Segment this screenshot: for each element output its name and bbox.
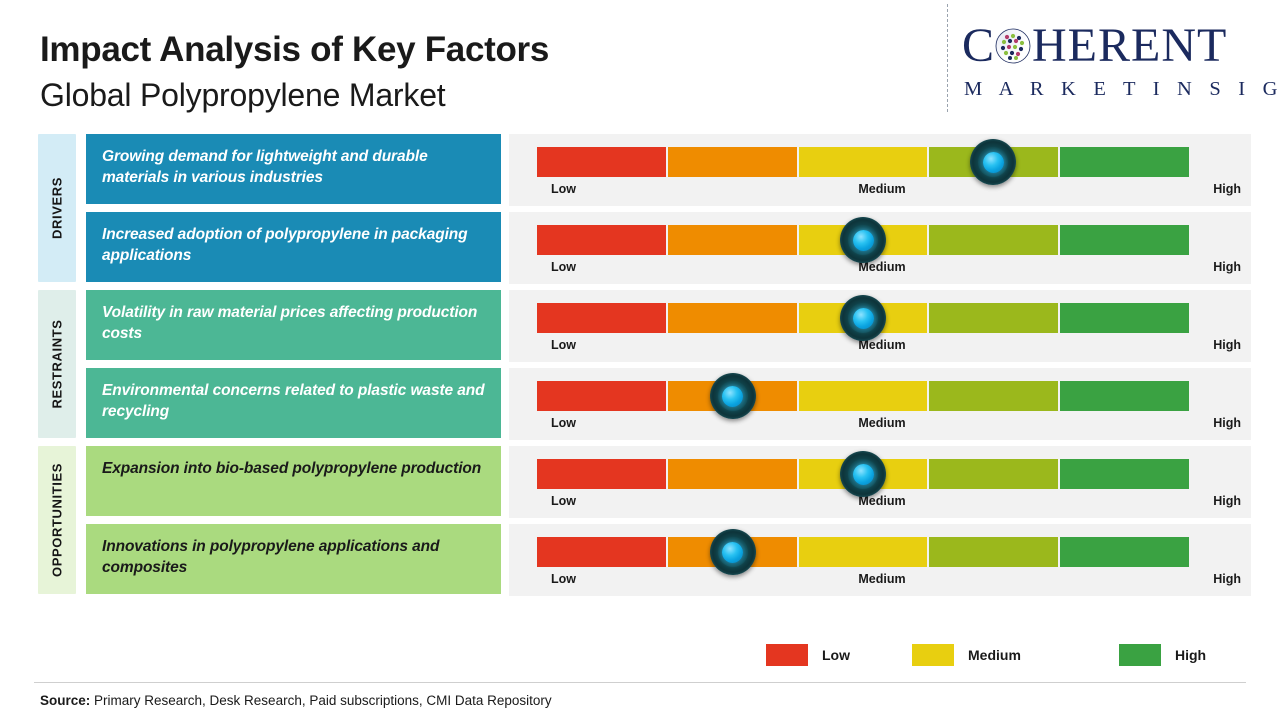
gauge-segment-2 [668,303,797,333]
gauge-segment-5 [1060,459,1189,489]
slide-header: Impact Analysis of Key Factors Global Po… [0,0,1280,128]
factor-box: Environmental concerns related to plasti… [86,368,501,438]
gauge-marker[interactable] [970,139,1016,185]
logo-tagline: M A R K E T I N S I G H T S [962,78,1262,101]
page-title: Impact Analysis of Key Factors [40,30,549,70]
gauge-segment-4 [929,537,1058,567]
footer-divider [34,682,1246,683]
logo-wordmark-rest: HERENT [1032,22,1227,70]
category-strip-label: RESTRAINTS [50,319,65,408]
gauge-label-low: Low [551,182,576,196]
gauge-bar [537,381,1189,411]
gauge-label-high: High [1213,416,1241,430]
gauge-scale-labels: LowMediumHigh [537,182,1227,202]
gauge-marker[interactable] [710,373,756,419]
gauge-scale-labels: LowMediumHigh [537,494,1227,514]
legend: LowMediumHigh [0,634,1280,678]
gauge-segment-1 [537,381,666,411]
gauge-label-high: High [1213,260,1241,274]
gauge-label-high: High [1213,182,1241,196]
gauge-segment-4 [929,225,1058,255]
gauge-label-low: Low [551,416,576,430]
source-label: Source: [40,693,90,708]
gauge-segment-3 [799,147,928,177]
gauge-segment-4 [929,381,1058,411]
gauge-segment-5 [1060,303,1189,333]
gauge-segment-5 [1060,147,1189,177]
gauge-segment-4 [929,303,1058,333]
gauge-segment-1 [537,147,666,177]
page-subtitle: Global Polypropylene Market [40,76,549,114]
gauge-bar [537,537,1189,567]
title-block: Impact Analysis of Key Factors Global Po… [40,30,549,115]
category-strip-label: OPPORTUNITIES [50,463,65,577]
source-text: Primary Research, Desk Research, Paid su… [90,693,551,708]
gauge-segment-5 [1060,537,1189,567]
logo-wordmark-primary: C [962,22,1262,70]
gauge-segment-3 [799,381,928,411]
gauge-scale-labels: LowMediumHigh [537,416,1227,436]
gauge-label-medium: Medium [858,182,905,196]
legend-label-low: Low [822,647,850,663]
gauge-label-medium: Medium [858,572,905,586]
gauge-panel: LowMediumHigh [509,368,1251,440]
gauge-segment-2 [668,225,797,255]
category-strip-opportunities: OPPORTUNITIES [38,446,76,594]
category-strip-label: DRIVERS [50,177,65,239]
source-note: Source: Primary Research, Desk Research,… [40,693,552,708]
legend-label-high: High [1175,647,1206,663]
gauge-segment-5 [1060,225,1189,255]
gauge-marker[interactable] [710,529,756,575]
gauge-segment-5 [1060,381,1189,411]
gauge-marker[interactable] [840,451,886,497]
gauge-panel: LowMediumHigh [509,212,1251,284]
gauge-panel: LowMediumHigh [509,524,1251,596]
factor-box: Growing demand for lightweight and durab… [86,134,501,204]
gauge-panel: LowMediumHigh [509,290,1251,362]
factor-box: Increased adoption of polypropylene in p… [86,212,501,282]
gauge-label-low: Low [551,338,576,352]
logo-letter-c: C [962,22,995,70]
gauge-marker[interactable] [840,295,886,341]
gauge-panel: LowMediumHigh [509,446,1251,518]
gauge-segment-1 [537,537,666,567]
gauge-segment-4 [929,459,1058,489]
category-strip-restraints: RESTRAINTS [38,290,76,438]
legend-label-medium: Medium [968,647,1021,663]
gauge-label-high: High [1213,338,1241,352]
factor-box: Innovations in polypropylene application… [86,524,501,594]
gauge-segment-3 [799,537,928,567]
slide-root: Impact Analysis of Key Factors Global Po… [0,0,1280,720]
gauge-segment-1 [537,225,666,255]
legend-item-high: High [1119,644,1206,666]
gauge-segment-2 [668,147,797,177]
gauge-scale-labels: LowMediumHigh [537,338,1227,358]
gauge-panel: LowMediumHigh [509,134,1251,206]
legend-swatch-medium [912,644,954,666]
header-dashed-divider [947,4,948,112]
gauge-segment-2 [668,459,797,489]
gauge-segment-1 [537,303,666,333]
factor-box: Expansion into bio-based polypropylene p… [86,446,501,516]
gauge-scale-labels: LowMediumHigh [537,572,1227,592]
gauge-label-high: High [1213,572,1241,586]
gauge-marker[interactable] [840,217,886,263]
coherent-market-insights-logo: C [962,22,1262,101]
legend-swatch-low [766,644,808,666]
impact-matrix: DRIVERSGrowing demand for lightweight an… [0,134,1280,624]
legend-item-low: Low [766,644,850,666]
gauge-segment-1 [537,459,666,489]
category-strip-drivers: DRIVERS [38,134,76,282]
legend-swatch-high [1119,644,1161,666]
gauge-label-high: High [1213,494,1241,508]
gauge-bar [537,147,1189,177]
gauge-label-low: Low [551,494,576,508]
factor-box: Volatility in raw material prices affect… [86,290,501,360]
gauge-scale-labels: LowMediumHigh [537,260,1227,280]
gauge-label-low: Low [551,260,576,274]
gauge-label-low: Low [551,572,576,586]
globe-icon [995,28,1031,64]
gauge-label-medium: Medium [858,416,905,430]
legend-item-medium: Medium [912,644,1021,666]
